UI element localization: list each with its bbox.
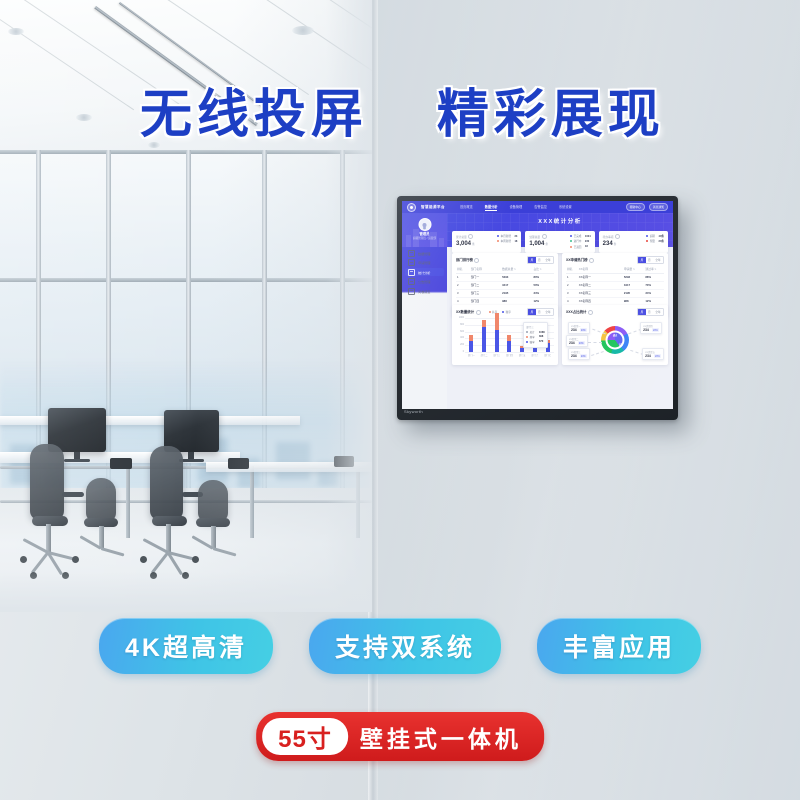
dashboard-sidebar: 管理员 超级管理员 / 运营部 数据管理 申请管理	[402, 213, 447, 409]
stat-sub-value: 230	[585, 240, 589, 243]
segment-week[interactable]: 周	[528, 309, 535, 315]
stat-card-processed: 处理总量 1,004条 已完成1004 进行中230 已退回18	[525, 231, 594, 253]
dashboard-brand: 智慧能源平台	[421, 205, 445, 210]
column-header: 部门名称	[470, 266, 501, 273]
bar-column	[495, 313, 499, 352]
feature-pill-row: 4K超高清 支持双系统 丰富应用	[0, 618, 800, 674]
donut-label-1: XX类型一 23420%	[568, 322, 590, 334]
sidebar-item-label: 申请管理	[418, 260, 430, 265]
leaf-circle-icon	[407, 203, 416, 212]
segment-month[interactable]: 月	[536, 257, 543, 263]
sidebar-item-statistics[interactable]: 统计分析	[405, 268, 444, 276]
product-size-label: 55寸	[262, 718, 348, 755]
topnav-item-0[interactable]: 首页概览	[460, 204, 473, 211]
office-chair	[30, 444, 64, 520]
segment-week[interactable]: 周	[528, 257, 535, 263]
bar-column	[482, 320, 486, 352]
stat-unit: 条	[614, 242, 617, 246]
info-icon[interactable]	[476, 310, 481, 315]
stat-unit: 条	[472, 242, 475, 246]
donut-label-3: XX类型三 23420%	[568, 348, 590, 360]
sidebar-item-announcements[interactable]: 公告管理	[405, 278, 444, 286]
segment-year[interactable]: 全年	[653, 309, 663, 315]
feature-pill-dual-system: 支持双系统	[309, 618, 501, 674]
notifications-button[interactable]: 消息通知	[649, 203, 668, 211]
charts-row: XX数量统计 共享 独享 周 月 全年	[452, 305, 668, 365]
topbar-actions: 帮助中心 消息通知	[626, 203, 668, 211]
stat-unit: 条	[545, 242, 548, 246]
user-role: 超级管理员 / 运营部	[402, 236, 447, 240]
column-header-sortable[interactable]: 数据总量⇅	[501, 266, 532, 273]
table-row: 3XX名称三219534%	[566, 289, 664, 297]
period-segmented-control: 周 月 全年	[637, 308, 664, 316]
info-icon[interactable]	[615, 234, 620, 239]
stat-sub-value: 18	[514, 240, 517, 243]
tv-brand-logo: Skyworth	[404, 409, 423, 414]
card-title: XXX占比统计	[566, 310, 586, 314]
table-row: 3部门三219534%	[456, 289, 554, 297]
segment-month[interactable]: 月	[646, 257, 653, 263]
feature-pill-rich-apps: 丰富应用	[537, 618, 701, 674]
stat-card-todo: 待办事项 234条 超期40条 预警23条	[599, 231, 668, 253]
topnav-item-4[interactable]: 系统设置	[559, 204, 572, 211]
bar-column	[507, 335, 511, 352]
topnav-item-3[interactable]: 告警监控	[534, 204, 547, 211]
stat-sub-value: 23条	[659, 239, 664, 243]
table-header-row: 排名 部门名称 数据总量⇅ 占比⇅	[456, 266, 554, 273]
headline-left: 无线投屏	[140, 86, 368, 144]
bar-chart-plot: 0 200 400 600 800 1000	[456, 318, 554, 358]
ceiling-light-icon	[8, 28, 24, 35]
stat-sub-label: 已完成	[574, 234, 582, 238]
stat-sub-label: 本周新增	[501, 239, 511, 243]
stat-card-row: 累计总量 3,004条 本月新增23 本周新增18 处理总量 1,	[452, 231, 668, 253]
ceiling-light-icon	[76, 114, 92, 121]
segment-week[interactable]: 周	[638, 309, 645, 315]
bar-column	[469, 335, 473, 352]
table-header-row: 排名 XX名称 申请量⇅ 通过率⇅	[566, 266, 664, 273]
y-axis: 0 200 400 600 800 1000	[456, 318, 465, 352]
table-row: 1部门一529380%	[456, 273, 554, 281]
product-badge: 55寸 壁挂式一体机	[256, 712, 544, 761]
donut-chart-card: XXX占比统计 周 月 全年	[562, 305, 668, 365]
page-headline: 无线投屏 精彩展现	[140, 72, 680, 147]
wall-mounted-display: 智慧能源平台 首页概览 数据分析 设备管理 告警监控 系统设置 帮助中心 消息通…	[397, 196, 678, 420]
office-chair	[198, 480, 228, 522]
poster-root: 无线投屏 精彩展现 智慧能源平台 首页概览 数据分析 设备管理 告警监控 系统设…	[0, 0, 800, 800]
column-header: 排名	[456, 266, 470, 273]
sidebar-item-data-management[interactable]: 数据管理	[405, 249, 444, 257]
feature-pill-4k: 4K超高清	[99, 618, 273, 674]
megaphone-icon	[408, 278, 415, 285]
bar-chart-legend: 共享 独享	[489, 310, 511, 314]
help-button[interactable]: 帮助中心	[626, 203, 645, 211]
stat-card-total: 累计总量 3,004条 本月新增23 本周新增18	[452, 231, 521, 253]
donut-label-5: XX类型五 23420%	[642, 348, 664, 360]
stat-caption: 累计总量	[456, 235, 467, 239]
stat-sub-value: 1004	[585, 235, 591, 238]
info-icon[interactable]	[542, 234, 547, 239]
column-header: XX名称	[578, 266, 623, 273]
desk-phone	[110, 458, 132, 469]
info-icon[interactable]	[468, 234, 473, 239]
stat-value: 234	[603, 241, 613, 247]
dashboard-topnav: 首页概览 数据分析 设备管理 告警监控 系统设置	[460, 204, 572, 211]
segment-month[interactable]: 月	[646, 309, 653, 315]
desk	[0, 416, 300, 425]
stat-value: 3,004	[456, 241, 471, 247]
table-row: 2部门二341750%	[456, 281, 554, 289]
dashboard-content: XXX统计分析 累计总量 3,004条 本月新增23 本周新增18	[447, 213, 673, 409]
card-title: 部门排行榜	[456, 258, 473, 262]
table-row: 4XX名称四98812%	[566, 297, 664, 305]
stat-sub-value: 40条	[659, 234, 664, 238]
sidebar-item-application-management[interactable]: 申请管理	[405, 259, 444, 267]
column-header-sortable[interactable]: 占比⇅	[532, 266, 554, 273]
sidebar-item-label: 统计分析	[418, 270, 430, 275]
tooltip-title: 部门三	[526, 325, 544, 329]
sidebar-item-label: 公告管理	[418, 279, 430, 284]
headline-right: 精彩展现	[437, 86, 665, 144]
donut-label-4: XX类型四 23420%	[640, 322, 662, 334]
topnav-item-2[interactable]: 设备管理	[509, 204, 522, 211]
period-segmented-control: 周 月 全年	[527, 256, 554, 264]
segment-year[interactable]: 全年	[543, 309, 553, 315]
desk-phone	[228, 458, 249, 469]
dashboard-topbar: 智慧能源平台 首页概览 数据分析 设备管理 告警监控 系统设置 帮助中心 消息通…	[402, 201, 673, 213]
stat-caption: 处理总量	[529, 235, 540, 239]
stat-sub-label: 进行中	[574, 239, 582, 243]
stat-value: 1,004	[529, 241, 544, 247]
stat-sub-label: 预警	[650, 239, 655, 243]
sidebar-item-label: 问卷调查	[418, 289, 430, 294]
database-icon	[408, 250, 415, 257]
office-chair	[86, 478, 116, 522]
table-row: 4部门四98812%	[456, 297, 554, 305]
table-row: 1XX名称一529388%	[566, 273, 664, 281]
x-axis: 部门一 部门二 部门三 部门四 部门五 部门六 部门七	[465, 352, 554, 358]
chart-tooltip: 部门三 总计1068 共享398 独享670	[523, 322, 548, 347]
donut-label-2: XX类型二 23420%	[566, 335, 588, 347]
info-icon[interactable]	[588, 310, 593, 315]
stat-sub-label: 本月新增	[501, 234, 511, 238]
ceiling-light-icon	[292, 26, 314, 35]
segment-week[interactable]: 周	[638, 257, 645, 263]
card-title: XX申请热门榜	[566, 258, 587, 262]
stat-sub-value: 23	[514, 235, 517, 238]
info-icon[interactable]	[589, 258, 594, 263]
segment-month[interactable]: 月	[536, 309, 543, 315]
office-chair	[150, 446, 183, 520]
card-title: XX数量统计	[456, 310, 474, 314]
column-header: 排名	[566, 266, 578, 273]
segment-year[interactable]: 全年	[543, 257, 553, 263]
sidebar-menu: 数据管理 申请管理 统计分析 公告管理	[402, 247, 447, 299]
column-header-sortable[interactable]: 通过率⇅	[644, 266, 664, 273]
sidebar-user-panel: 管理员 超级管理员 / 运营部	[402, 213, 447, 247]
avatar[interactable]	[418, 218, 431, 231]
form-icon	[408, 259, 415, 266]
legend-label: 独享	[506, 310, 511, 314]
stat-sub-label: 已退回	[574, 245, 582, 249]
info-icon[interactable]	[474, 258, 479, 263]
bar-chart-card: XX数量统计 共享 独享 周 月 全年	[452, 305, 558, 365]
topnav-item-1[interactable]: 数据分析	[485, 204, 498, 211]
clipboard-icon	[408, 288, 415, 295]
stat-caption: 待办事项	[603, 235, 614, 239]
donut-chart-plot: 通过 占比 XX类型一 23420%	[566, 318, 664, 362]
dashboard-screen: 智慧能源平台 首页概览 数据分析 设备管理 告警监控 系统设置 帮助中心 消息通…	[402, 201, 673, 409]
sidebar-item-survey[interactable]: 问卷调查	[405, 287, 444, 295]
period-segmented-control: 周 月 全年	[637, 256, 664, 264]
segment-year[interactable]: 全年	[653, 257, 663, 263]
column-header-sortable[interactable]: 申请量⇅	[623, 266, 645, 273]
sidebar-item-label: 数据管理	[418, 251, 430, 256]
pie-center-label-1: 通过	[613, 333, 617, 337]
stat-sub-value: 18	[585, 245, 588, 248]
page-title: XXX统计分析	[447, 217, 673, 225]
period-segmented-control: 周 月 全年	[527, 308, 554, 316]
product-type-label: 壁挂式一体机	[360, 720, 522, 754]
table-row: 2XX名称二341770%	[566, 281, 664, 289]
stat-sub-label: 超期	[650, 234, 655, 238]
pie-center-label-2: 占比	[619, 342, 623, 346]
chart-icon	[408, 269, 415, 276]
